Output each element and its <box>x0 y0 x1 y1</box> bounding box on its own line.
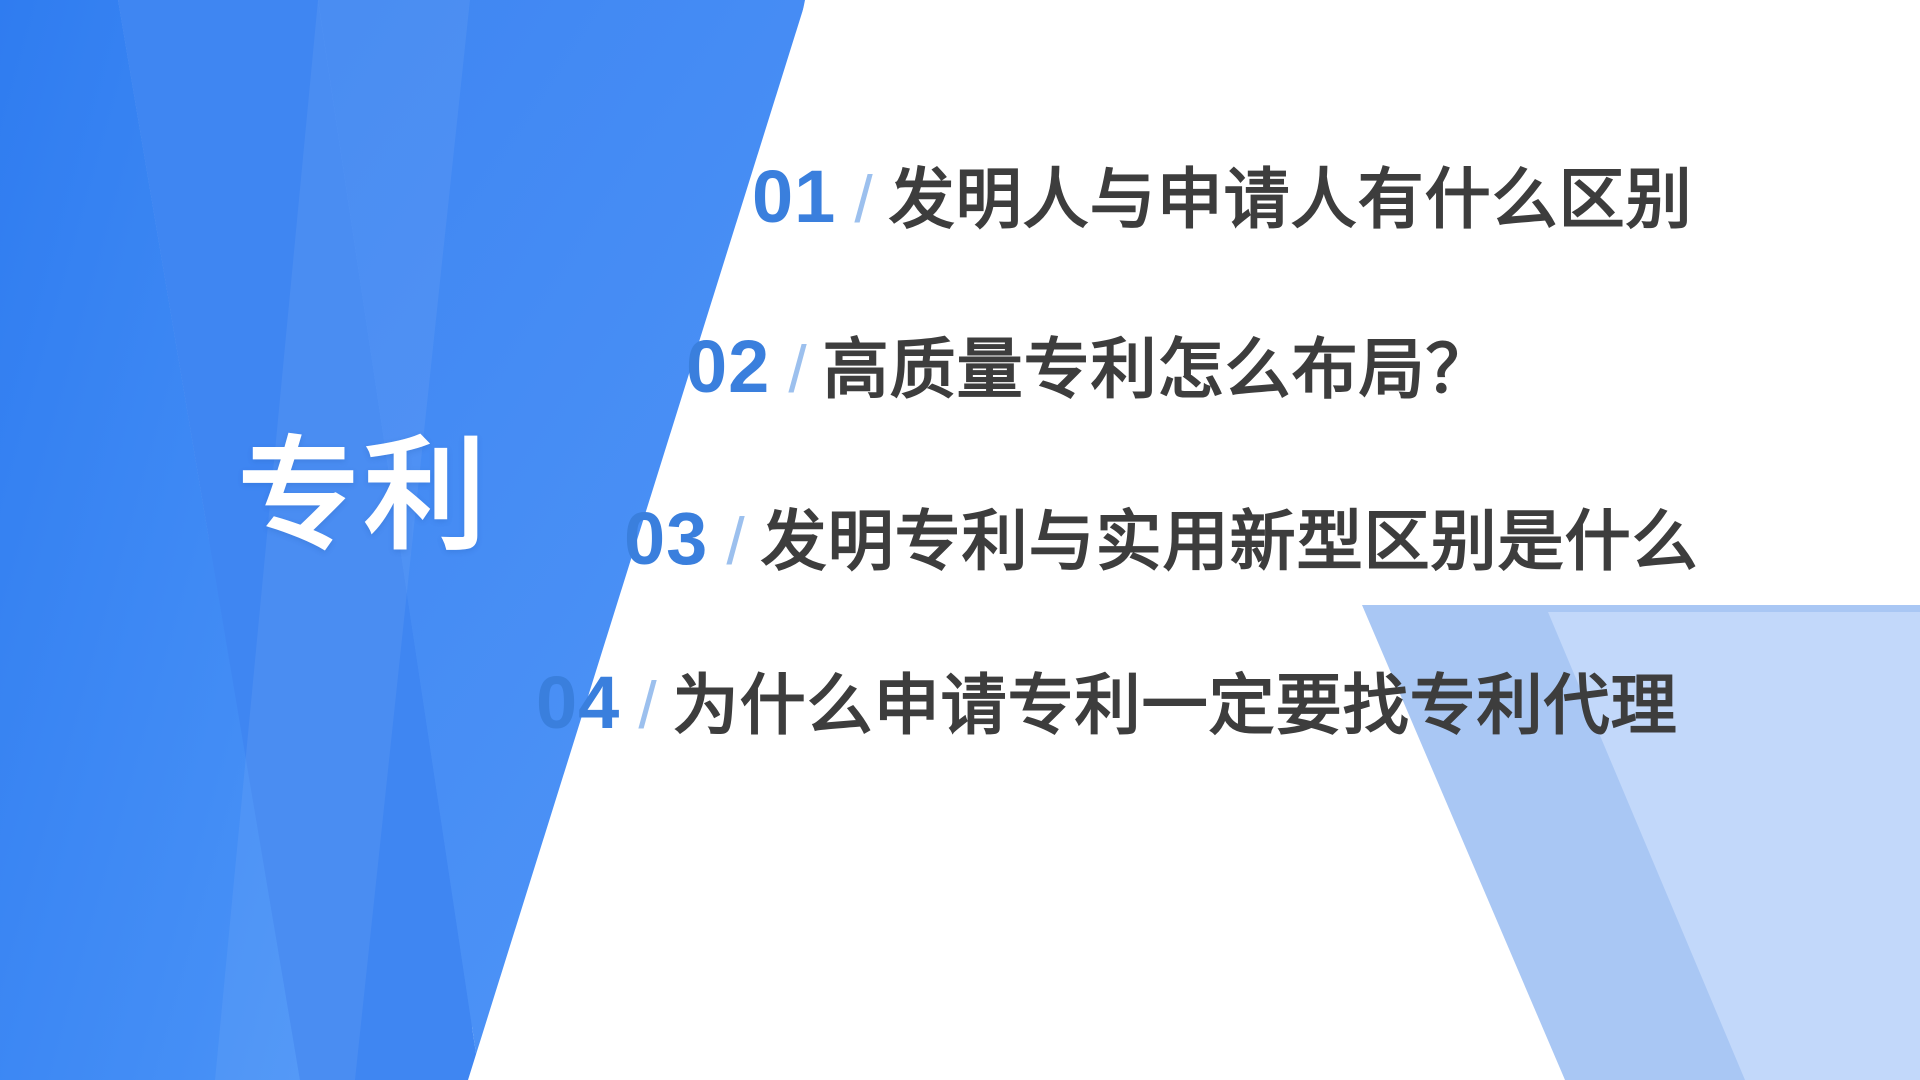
agenda-item-number: 03 <box>624 496 708 581</box>
agenda-item-label: 发明人与申请人有什么区别 <box>889 146 1693 242</box>
agenda-item-03[interactable]: 03 / 发明专利与实用新型区别是什么 <box>624 488 1699 584</box>
brand-title: 专利 <box>238 435 490 557</box>
agenda-item-label: 为什么申请专利一定要找专利代理 <box>673 652 1678 748</box>
slide-canvas: 专利 01 / 发明人与申请人有什么区别 02 / 高质量专利怎么布局？ 03 … <box>0 0 1920 1080</box>
agenda-item-02[interactable]: 02 / 高质量专利怎么布局？ <box>686 316 1493 412</box>
slash-icon: / <box>788 331 806 407</box>
agenda-item-number: 01 <box>752 154 836 239</box>
agenda-item-label: 发明专利与实用新型区别是什么 <box>761 488 1699 584</box>
agenda-item-number: 02 <box>686 324 770 409</box>
agenda-item-number: 04 <box>536 660 620 745</box>
slash-icon: / <box>638 667 656 743</box>
agenda-item-label: 高质量专利怎么布局？ <box>823 316 1493 412</box>
agenda-item-04[interactable]: 04 / 为什么申请专利一定要找专利代理 <box>536 652 1678 748</box>
slash-icon: / <box>726 503 744 579</box>
slash-icon: / <box>854 161 872 237</box>
agenda-item-01[interactable]: 01 / 发明人与申请人有什么区别 <box>752 146 1693 242</box>
